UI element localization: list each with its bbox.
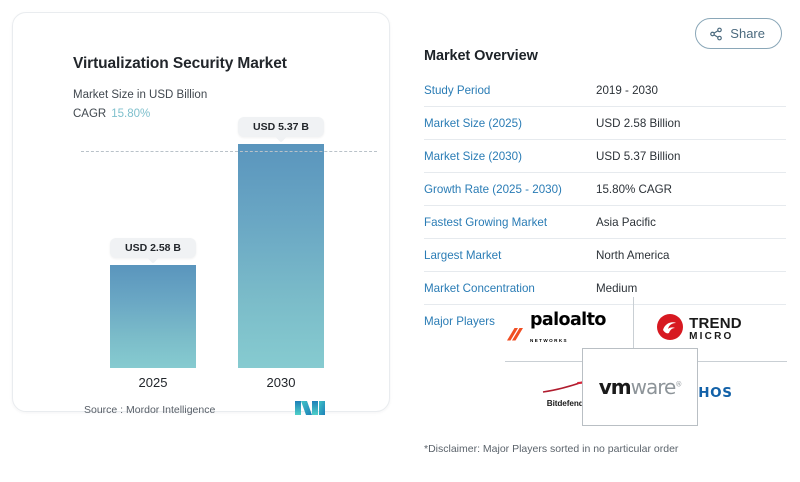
paloalto-subtext: NETWORKS <box>530 338 568 343</box>
chart-title: Virtualization Security Market <box>73 55 287 73</box>
table-row: Fastest Growing Market Asia Pacific <box>424 206 786 239</box>
vmware-wordmark-bold: vm <box>599 375 631 399</box>
row-value-growth-rate: 15.80% CAGR <box>596 173 786 206</box>
x-axis-label-2030: 2030 <box>238 375 324 390</box>
player-logo-vmware[interactable]: vmware® <box>582 348 698 426</box>
table-row: Study Period 2019 - 2030 <box>424 74 786 107</box>
mordor-intelligence-logo <box>294 399 326 417</box>
overview-table: Study Period 2019 - 2030 Market Size (20… <box>424 74 786 334</box>
overview-title: Market Overview <box>424 48 786 64</box>
chart-cagr: CAGR15.80% <box>73 108 150 120</box>
disclaimer-text: *Disclaimer: Major Players sorted in no … <box>424 443 678 455</box>
bar-2030[interactable] <box>238 144 324 368</box>
share-button-label: Share <box>730 26 765 41</box>
paloalto-mark-icon <box>505 326 526 346</box>
bar-value-2025: USD 2.58 B <box>110 238 196 258</box>
table-row: Largest Market North America <box>424 239 786 272</box>
row-value-study-period: 2019 - 2030 <box>596 74 786 107</box>
trendmicro-mark-icon <box>656 313 684 346</box>
bar-2025[interactable] <box>110 265 196 368</box>
row-value-market-size-2030: USD 5.37 Billion <box>596 140 786 173</box>
vmware-trademark-symbol: ® <box>675 380 681 388</box>
table-row: Market Size (2025) USD 2.58 Billion <box>424 107 786 140</box>
row-label-market-size-2025: Market Size (2025) <box>424 107 596 140</box>
table-row: Growth Rate (2025 - 2030) 15.80% CAGR <box>424 173 786 206</box>
row-label-market-size-2030: Market Size (2030) <box>424 140 596 173</box>
chart-cagr-value: 15.80% <box>111 108 150 120</box>
trendmicro-wordmark-line2: MICRO <box>689 332 742 343</box>
chart-card: Virtualization Security Market Market Si… <box>12 12 390 412</box>
table-row: Market Size (2030) USD 5.37 Billion <box>424 140 786 173</box>
row-label-fastest-growing-market: Fastest Growing Market <box>424 206 596 239</box>
market-snapshot-page: Share Virtualization Security Market Mar… <box>0 0 800 482</box>
source-label: Source : Mordor Intelligence <box>84 404 215 416</box>
paloalto-wordmark: paloalto <box>530 310 606 330</box>
bar-chart-plot: USD 2.58 B USD 5.37 B <box>27 128 377 368</box>
reference-dashed-line <box>81 151 377 152</box>
chart-subtitle: Market Size in USD Billion <box>73 89 207 101</box>
market-overview-panel: Market Overview Study Period 2019 - 2030… <box>424 48 786 334</box>
row-label-growth-rate: Growth Rate (2025 - 2030) <box>424 173 596 206</box>
chart-cagr-label: CAGR <box>73 108 106 120</box>
row-label-largest-market: Largest Market <box>424 239 596 272</box>
row-value-largest-market: North America <box>596 239 786 272</box>
trendmicro-wordmark-line1: TREND <box>689 316 742 332</box>
row-value-fastest-growing-market: Asia Pacific <box>596 206 786 239</box>
row-value-market-size-2025: USD 2.58 Billion <box>596 107 786 140</box>
x-axis-label-2025: 2025 <box>110 375 196 390</box>
bar-value-2030: USD 5.37 B <box>238 117 324 137</box>
vmware-wordmark-light: ware <box>631 375 676 399</box>
share-button[interactable]: Share <box>695 18 782 49</box>
share-nodes-icon <box>709 27 723 41</box>
row-label-study-period: Study Period <box>424 74 596 107</box>
